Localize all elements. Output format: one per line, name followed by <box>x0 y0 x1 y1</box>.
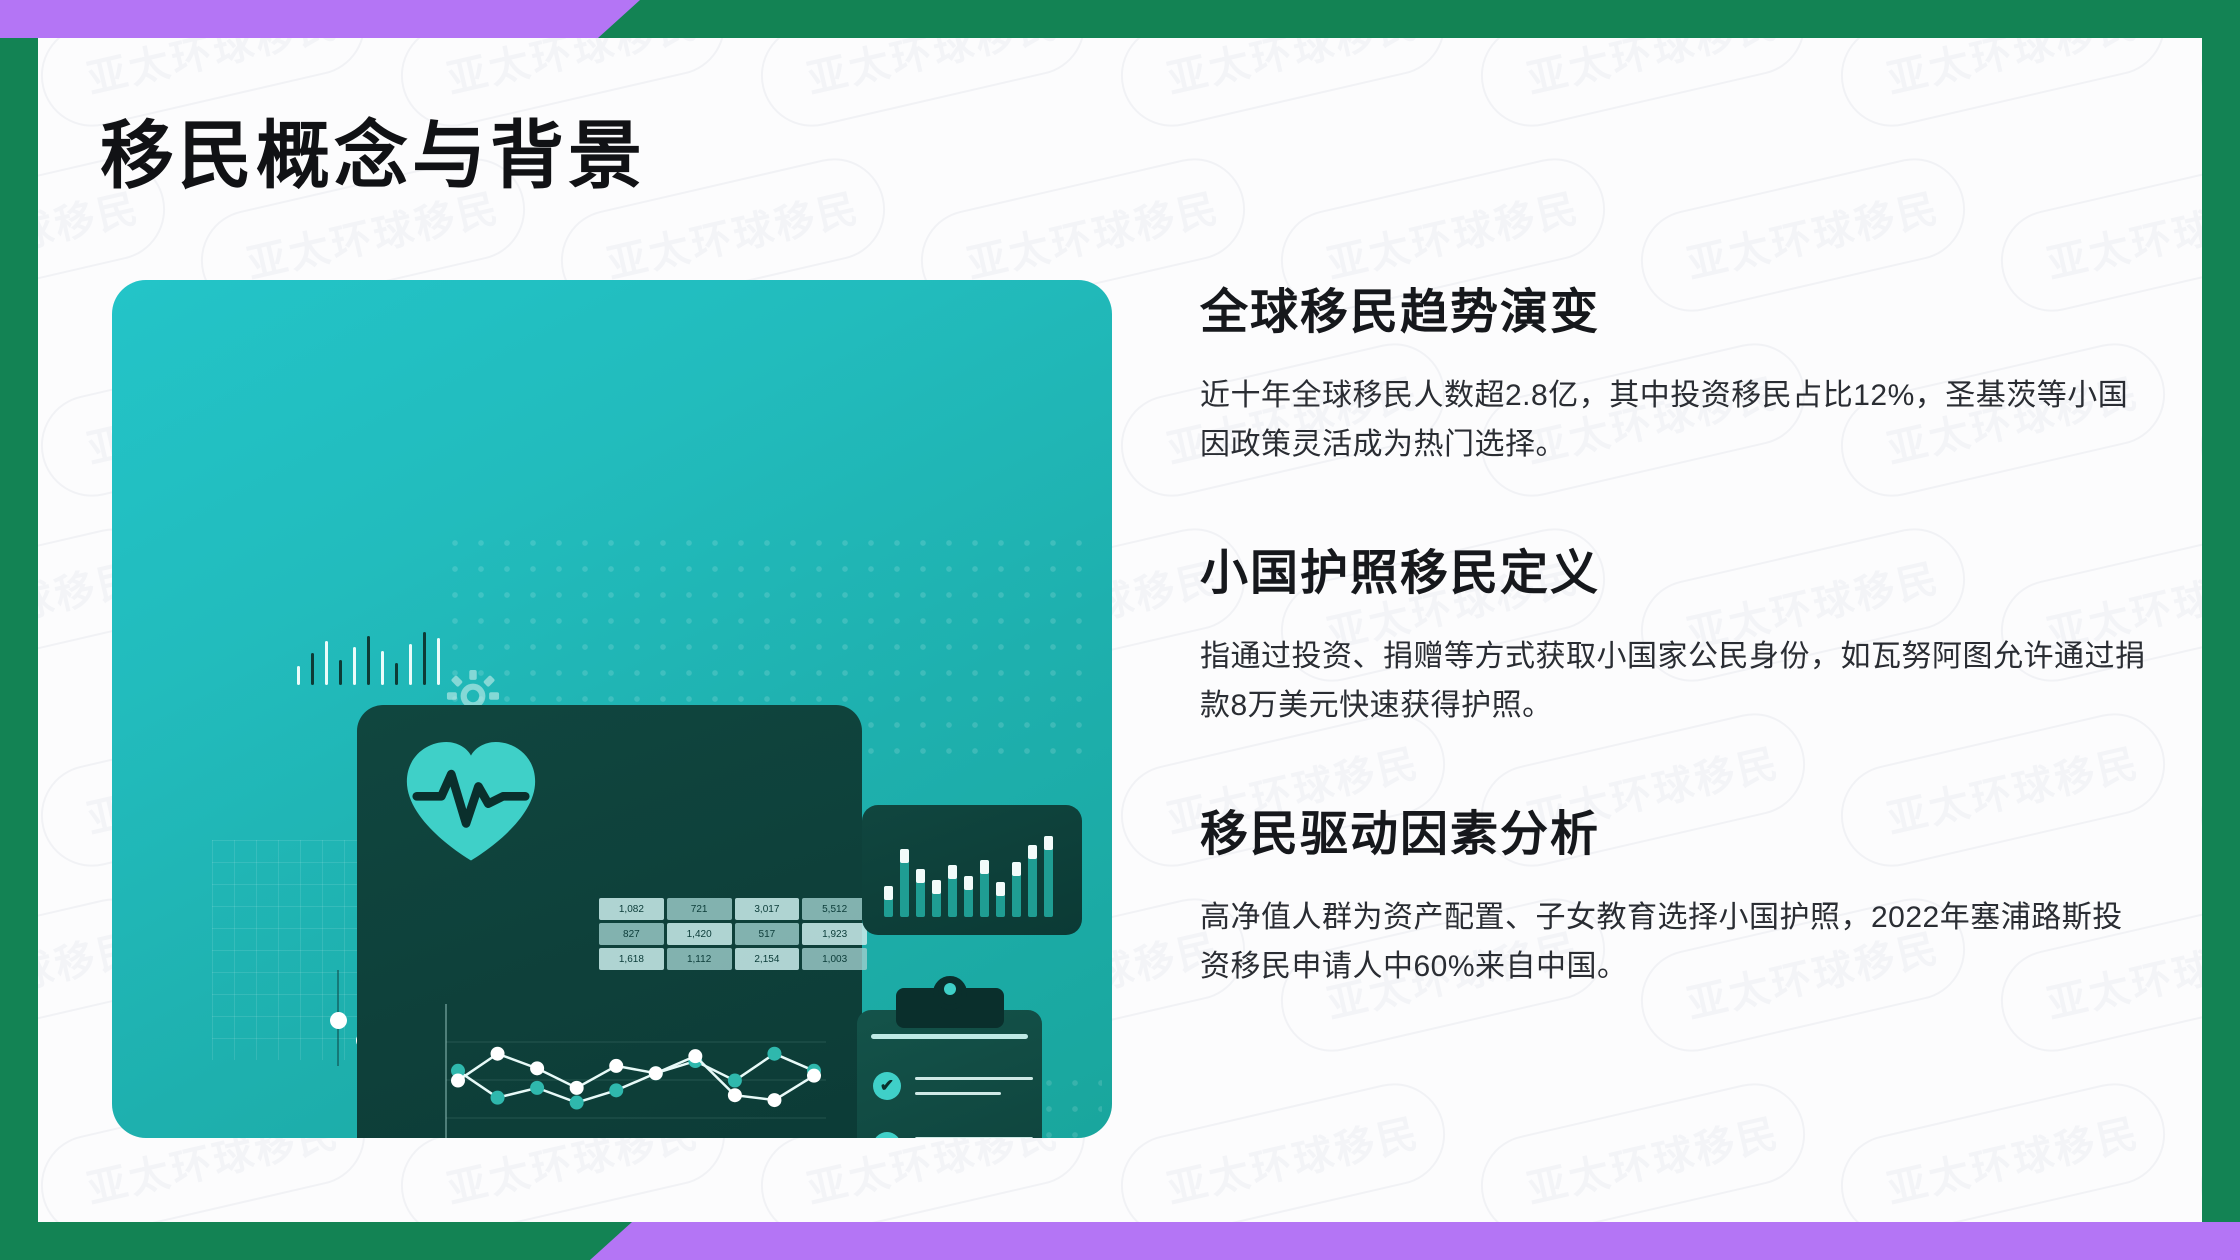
section-global-trend: 全球移民趋势演变 近十年全球移民人数超2.8亿，其中投资移民占比12%，圣基茨等… <box>1200 272 2150 469</box>
line-chart-point <box>649 1066 663 1080</box>
table-cell: 1,923 <box>802 923 867 945</box>
checklist-item: ✔ <box>873 1068 1028 1108</box>
bar-highlight <box>916 869 925 883</box>
table-cell: 721 <box>667 898 732 920</box>
bar <box>1028 845 1037 917</box>
left-green-edge <box>0 0 38 1260</box>
bar-highlight <box>980 860 989 874</box>
line-chart-point <box>570 1081 584 1095</box>
line-chart <box>432 998 832 1138</box>
check-icon: ✔ <box>873 1072 901 1100</box>
line-chart-point <box>688 1049 702 1063</box>
table-cell: 3,017 <box>735 898 800 920</box>
line-chart-point <box>728 1088 742 1102</box>
bottom-color-band <box>0 1222 2240 1260</box>
section-passport-definition: 小国护照移民定义 指通过投资、捐赠等方式获取小国家公民身份，如瓦努阿图允许通过捐… <box>1200 533 2150 730</box>
bar-highlight <box>900 849 909 863</box>
sparkline-bars <box>297 625 452 685</box>
bar <box>932 880 941 917</box>
sparkline-bar <box>409 644 412 685</box>
slide-root: 亚太环球移民亚太环球移民亚太环球移民亚太环球移民亚太环球移民亚太环球移民亚太环球… <box>0 0 2240 1260</box>
page-title: 移民概念与背景 <box>100 96 646 203</box>
sparkline-bar <box>353 647 356 685</box>
data-number-table: 1,0827213,0175,5128271,4205171,9231,6181… <box>599 898 867 970</box>
line-chart-point <box>491 1047 505 1061</box>
bar-highlight <box>884 886 893 900</box>
line-chart-point <box>609 1059 623 1073</box>
bar-highlight <box>1028 845 1037 859</box>
bar <box>1012 862 1021 917</box>
line-chart-point <box>728 1074 742 1088</box>
sparkline-bar <box>339 660 342 686</box>
table-cell: 1,082 <box>599 898 664 920</box>
bar-highlight <box>1044 836 1053 850</box>
bar-highlight <box>932 880 941 894</box>
bar-highlight <box>948 865 957 879</box>
bar-highlight <box>1012 862 1021 876</box>
line-chart-point <box>530 1081 544 1095</box>
bar <box>980 860 989 917</box>
bar-highlight <box>996 882 1005 896</box>
clipboard-header-bar <box>871 1034 1028 1039</box>
line-chart-point <box>491 1091 505 1105</box>
section-heading: 小国护照移民定义 <box>1200 533 2150 603</box>
right-green-edge <box>2202 0 2240 1260</box>
sparkline-bar <box>381 651 384 685</box>
table-cell: 1,112 <box>667 948 732 970</box>
bar <box>948 865 957 917</box>
table-cell: 827 <box>599 923 664 945</box>
bar <box>1044 836 1053 917</box>
top-purple-accent <box>0 0 640 38</box>
line-chart-point <box>530 1061 544 1075</box>
sparkline-bar <box>297 666 300 685</box>
bar-highlight <box>964 876 973 890</box>
content-column: 全球移民趋势演变 近十年全球移民人数超2.8亿，其中投资移民占比12%，圣基茨等… <box>1200 272 2150 992</box>
checklist-item: ✔ <box>873 1128 1028 1138</box>
check-icon: ✔ <box>873 1132 901 1138</box>
line-chart-point <box>609 1083 623 1097</box>
illustration-panel: 1,0827213,0175,5128271,4205171,9231,6181… <box>112 280 1112 1138</box>
table-cell: 1,420 <box>667 923 732 945</box>
section-body: 高净值人群为资产配置、子女教育选择小国护照，2022年塞浦路斯投资移民申请人中6… <box>1200 894 2150 991</box>
line-chart-point <box>570 1096 584 1110</box>
section-body: 近十年全球移民人数超2.8亿，其中投资移民占比12%，圣基茨等小国因政策灵活成为… <box>1200 372 2150 469</box>
checklist-clipboard: ✔ ✔ ✔ <box>857 1010 1042 1138</box>
sparkline-bar <box>437 638 440 685</box>
clipboard-clip-icon <box>896 988 1004 1028</box>
bar <box>964 876 973 917</box>
table-cell: 517 <box>735 923 800 945</box>
line-chart-point <box>767 1093 781 1107</box>
section-body: 指通过投资、捐赠等方式获取小国家公民身份，如瓦努阿图允许通过捐款8万美元快速获得… <box>1200 633 2150 730</box>
watermark-item: 亚太环球移民 <box>2188 320 2202 521</box>
bottom-purple-accent <box>590 1222 2240 1260</box>
sparkline-bar <box>423 632 426 685</box>
heartbeat-icon <box>397 730 545 870</box>
bar-chart-bars <box>884 825 1064 917</box>
bar <box>916 869 925 917</box>
sparkline-bar <box>367 636 370 685</box>
bar <box>884 886 893 917</box>
section-heading: 全球移民趋势演变 <box>1200 272 2150 342</box>
section-heading: 移民驱动因素分析 <box>1200 794 2150 864</box>
top-color-band <box>0 0 2240 38</box>
table-cell: 2,154 <box>735 948 800 970</box>
line-chart-point <box>767 1047 781 1061</box>
bar-chart-card <box>862 805 1082 935</box>
bar <box>996 882 1005 917</box>
sparkline-bar <box>325 641 328 685</box>
watermark-item: 亚太环球移民 <box>2188 690 2202 891</box>
table-cell: 1,618 <box>599 948 664 970</box>
line-chart-point <box>807 1069 821 1083</box>
bar <box>900 849 909 917</box>
slider-knob[interactable] <box>330 1012 347 1029</box>
section-driving-factors: 移民驱动因素分析 高净值人群为资产配置、子女教育选择小国护照，2022年塞浦路斯… <box>1200 794 2150 991</box>
sparkline-bar <box>311 653 314 685</box>
sparkline-bar <box>395 663 398 685</box>
line-chart-point <box>451 1074 465 1088</box>
table-cell: 5,512 <box>802 898 867 920</box>
table-cell: 1,003 <box>802 948 867 970</box>
